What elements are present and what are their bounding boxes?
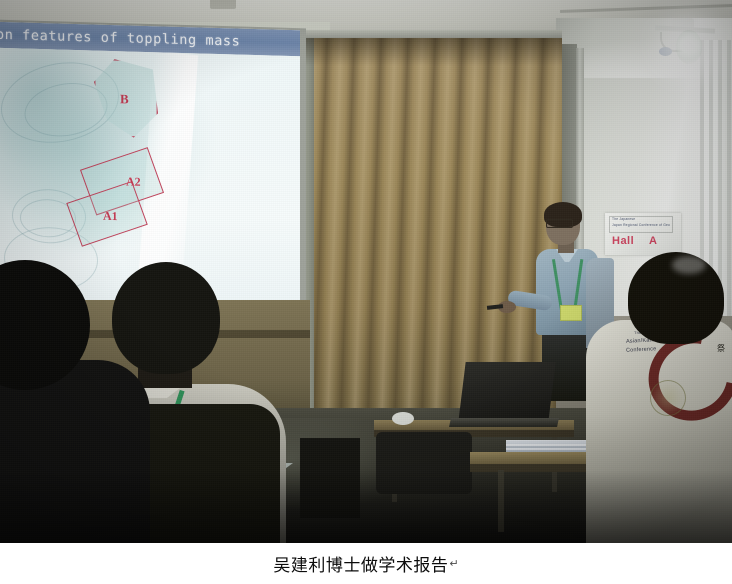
chair bbox=[376, 432, 472, 494]
caption-return-mark: ↵ bbox=[449, 557, 458, 570]
laptop-base bbox=[449, 418, 559, 427]
slide-title: on features of toppling mass bbox=[0, 27, 240, 50]
curtain-top-shadow bbox=[300, 36, 562, 66]
ceiling-vent bbox=[210, 0, 236, 9]
photo-caption: 吴建利博士做学术报告 ↵ bbox=[0, 543, 732, 584]
map-region-label-a1: A1 bbox=[103, 209, 118, 224]
desk-leg bbox=[498, 470, 504, 532]
screenshot-root: The Japanese Japan Regional Conference o… bbox=[0, 0, 732, 584]
laptop-screen bbox=[458, 362, 555, 422]
tshirt-emblem bbox=[650, 380, 686, 416]
ceiling-light-icon bbox=[676, 30, 702, 64]
chair bbox=[300, 438, 360, 518]
glasses-icon bbox=[546, 219, 573, 228]
audience-front-right-head-highlight bbox=[672, 256, 706, 274]
caption-text: 吴建利博士做学术报告 bbox=[273, 551, 448, 576]
presenter-badge bbox=[560, 305, 582, 321]
audience-front-mid-head bbox=[112, 262, 220, 374]
wall-sign-hall-label: Hall bbox=[612, 235, 634, 247]
wall-sign: The Japanese Japan Regional Conference o… bbox=[605, 213, 681, 255]
map-region-label-b: B bbox=[120, 91, 129, 107]
ceiling-light-knob bbox=[659, 47, 672, 56]
wall-sign-line-1: The Japanese bbox=[612, 217, 635, 221]
computer-mouse bbox=[392, 412, 414, 425]
map-region-label-a2: A2 bbox=[126, 174, 141, 189]
wall-sign-hall-letter: A bbox=[649, 235, 657, 247]
conference-photo: The Japanese Japan Regional Conference o… bbox=[0, 0, 732, 543]
tshirt-vertical-text: 祭 bbox=[716, 344, 726, 353]
wall-sign-line-2: Japan Regional Conference of Geo bbox=[612, 223, 670, 227]
curtain-rail bbox=[300, 30, 562, 38]
